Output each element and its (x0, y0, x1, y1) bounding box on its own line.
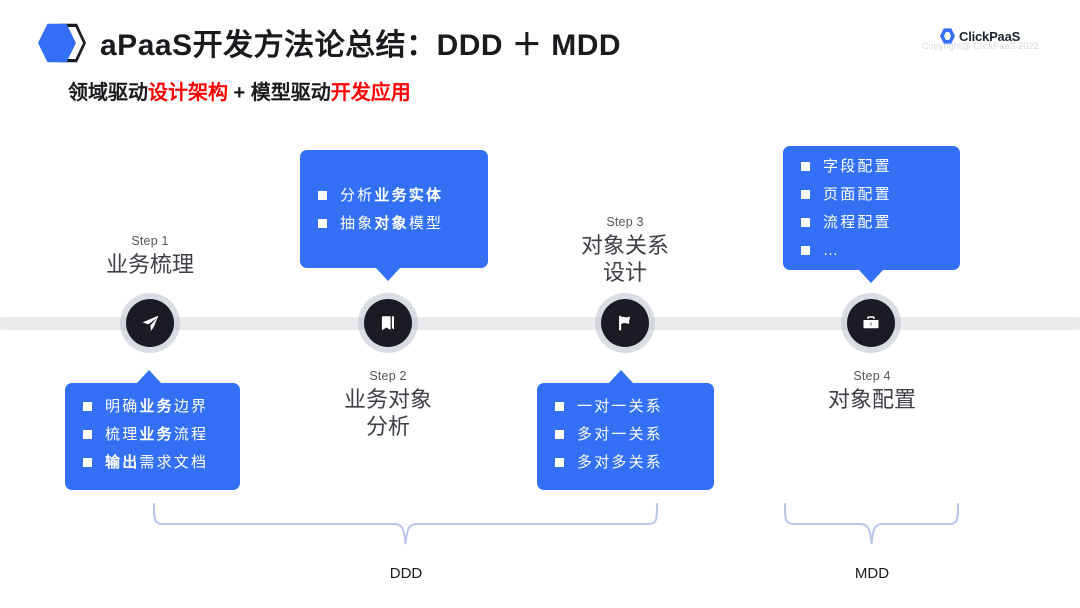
briefcase-icon (862, 314, 880, 332)
subtitle-part-2: 设计架构 (148, 82, 228, 104)
list-item: 梳理业务流程 (83, 427, 222, 442)
step-number-1: Step 1 (65, 234, 235, 248)
callout-tail-1 (137, 370, 161, 383)
square-bullet-icon (801, 246, 810, 255)
step-label-3: Step 3 对象关系 设计 (540, 215, 710, 287)
subtitle-part-4: 开发应用 (331, 82, 411, 104)
paper-plane-icon (141, 314, 160, 333)
flag-icon (616, 314, 634, 332)
timeline-node-1[interactable] (126, 299, 174, 347)
slide-canvas: aPaaS开发方法论总结：DDD ＋ MDD 领域驱动设计架构 + 模型驱动开发… (0, 0, 1080, 608)
step-name-1: 业务梳理 (65, 252, 235, 279)
callout-tail-4 (859, 270, 883, 283)
step-name-3: 对象关系 设计 (540, 233, 710, 287)
square-bullet-icon (801, 218, 810, 227)
book-icon (379, 314, 397, 332)
list-item: 多对多关系 (555, 455, 696, 470)
square-bullet-icon (83, 458, 92, 467)
list-item: 流程配置 (801, 215, 942, 230)
callout-list-1: 明确业务边界 梳理业务流程 输出需求文档 (83, 399, 222, 470)
page-title: aPaaS开发方法论总结：DDD ＋ MDD (100, 20, 621, 64)
square-bullet-icon (555, 430, 564, 439)
list-item: 一对一关系 (555, 399, 696, 414)
square-bullet-icon (801, 190, 810, 199)
square-bullet-icon (555, 458, 564, 467)
step-callout-1: 明确业务边界 梳理业务流程 输出需求文档 (65, 383, 240, 490)
mdd-brace (781, 500, 966, 550)
square-bullet-icon (318, 219, 327, 228)
step-name-2: 业务对象 分析 (303, 387, 473, 441)
timeline-node-3[interactable] (601, 299, 649, 347)
list-item: 字段配置 (801, 159, 942, 174)
list-item: 分析业务实体 (318, 188, 470, 203)
square-bullet-icon (83, 430, 92, 439)
step-label-4: Step 4 对象配置 (787, 369, 957, 414)
page-subtitle: 领域驱动设计架构 + 模型驱动开发应用 (68, 76, 411, 105)
square-bullet-icon (83, 402, 92, 411)
subtitle-part-1: 领域驱动 (68, 82, 148, 104)
step-number-3: Step 3 (540, 215, 710, 229)
step-name-4: 对象配置 (787, 387, 957, 414)
step-callout-3: 一对一关系 多对一关系 多对多关系 (537, 383, 714, 490)
square-bullet-icon (318, 191, 327, 200)
step-callout-4: 字段配置 页面配置 流程配置 … (783, 146, 960, 270)
callout-list-2: 分析业务实体 抽象对象模型 (318, 166, 470, 231)
timeline-node-2[interactable] (364, 299, 412, 347)
brand-watermark: ClickPaaS Copyright@ ClickPaaS 2022 (922, 28, 1052, 51)
callout-list-3: 一对一关系 多对一关系 多对多关系 (555, 399, 696, 470)
hexagon-logo-icon (32, 18, 94, 66)
list-item: 输出需求文档 (83, 455, 222, 470)
step-number-2: Step 2 (303, 369, 473, 383)
subtitle-part-3: + 模型驱动 (228, 82, 331, 104)
list-item: 明确业务边界 (83, 399, 222, 414)
group-label-ddd: DDD (346, 565, 466, 582)
list-item: 页面配置 (801, 187, 942, 202)
list-item: 抽象对象模型 (318, 216, 470, 231)
step-number-4: Step 4 (787, 369, 957, 383)
list-item: … (801, 243, 942, 258)
list-item: 多对一关系 (555, 427, 696, 442)
timeline-node-4[interactable] (847, 299, 895, 347)
square-bullet-icon (801, 162, 810, 171)
ddd-brace (150, 500, 665, 550)
step-callout-2: 分析业务实体 抽象对象模型 (300, 150, 488, 268)
callout-tail-3 (609, 370, 633, 383)
callout-list-4: 字段配置 页面配置 流程配置 … (801, 159, 942, 258)
square-bullet-icon (555, 402, 564, 411)
step-label-1: Step 1 业务梳理 (65, 234, 235, 279)
callout-tail-2 (376, 268, 400, 281)
step-label-2: Step 2 业务对象 分析 (303, 369, 473, 441)
group-label-mdd: MDD (812, 565, 932, 582)
brand-copyright: Copyright@ ClickPaaS 2022 (922, 41, 1052, 51)
